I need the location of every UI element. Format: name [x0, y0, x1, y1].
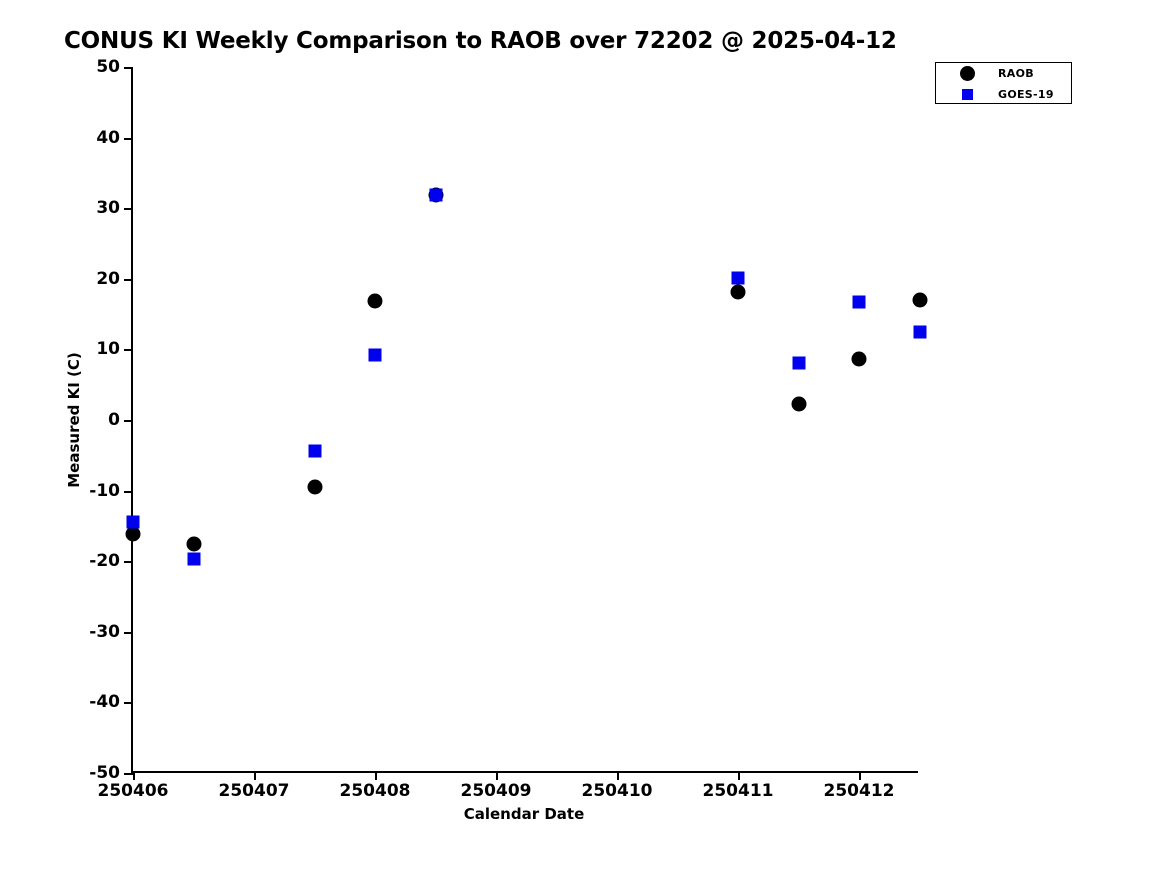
data-point-raob — [912, 292, 927, 307]
data-point-goes-19 — [429, 188, 442, 201]
square-marker-icon — [962, 89, 973, 100]
data-point-goes-19 — [187, 553, 200, 566]
x-tick-mark — [738, 771, 740, 780]
y-tick-label: -20 — [89, 551, 120, 571]
x-tick-label: 250412 — [824, 781, 895, 801]
legend-label: GOES-19 — [998, 88, 1054, 101]
legend-item-goes-19: GOES-19 — [936, 84, 1071, 105]
y-tick-label: -50 — [89, 763, 120, 783]
data-point-raob — [731, 285, 746, 300]
data-point-raob — [368, 294, 383, 309]
x-tick-label: 250410 — [582, 781, 653, 801]
y-tick-mark — [124, 349, 133, 351]
y-tick-mark — [124, 773, 133, 775]
x-tick-label: 250407 — [219, 781, 290, 801]
y-tick-mark — [124, 561, 133, 563]
y-tick-mark — [124, 420, 133, 422]
y-tick-mark — [124, 632, 133, 634]
x-tick-label: 250409 — [461, 781, 532, 801]
x-tick-label: 250406 — [98, 781, 169, 801]
x-tick-mark — [254, 771, 256, 780]
y-tick-label: 0 — [108, 410, 120, 430]
data-point-raob — [126, 527, 141, 542]
y-tick-label: 30 — [96, 198, 120, 218]
data-point-goes-19 — [913, 325, 926, 338]
data-point-raob — [186, 536, 201, 551]
y-axis-title: Measured KI (C) — [65, 352, 83, 488]
legend-marker-wrap — [936, 66, 998, 81]
data-point-raob — [852, 351, 867, 366]
plot-area: -50-40-30-20-1001020304050 2504062504072… — [131, 67, 918, 773]
chart-legend: RAOBGOES-19 — [935, 62, 1072, 104]
chart-page: CONUS KI Weekly Comparison to RAOB over … — [0, 0, 1167, 875]
y-tick-label: -40 — [89, 692, 120, 712]
y-tick-label: 10 — [96, 339, 120, 359]
x-tick-label: 250408 — [340, 781, 411, 801]
data-point-goes-19 — [732, 272, 745, 285]
y-tick-label: -10 — [89, 481, 120, 501]
data-point-raob — [307, 480, 322, 495]
data-point-goes-19 — [127, 516, 140, 529]
x-tick-label: 250411 — [703, 781, 774, 801]
y-tick-label: 50 — [96, 57, 120, 77]
data-point-goes-19 — [308, 445, 321, 458]
y-tick-label: 40 — [96, 128, 120, 148]
y-tick-mark — [124, 67, 133, 69]
x-tick-mark — [496, 771, 498, 780]
y-tick-mark — [124, 208, 133, 210]
x-tick-mark — [617, 771, 619, 780]
y-tick-mark — [124, 279, 133, 281]
data-point-goes-19 — [792, 356, 805, 369]
data-point-goes-19 — [853, 296, 866, 309]
x-tick-mark — [133, 771, 135, 780]
x-tick-mark — [375, 771, 377, 780]
legend-label: RAOB — [998, 67, 1034, 80]
y-tick-mark — [124, 138, 133, 140]
chart-title: CONUS KI Weekly Comparison to RAOB over … — [64, 28, 897, 54]
x-axis-title: Calendar Date — [464, 805, 585, 823]
x-tick-mark — [859, 771, 861, 780]
legend-item-raob: RAOB — [936, 63, 1071, 84]
circle-marker-icon — [960, 66, 975, 81]
data-point-goes-19 — [369, 349, 382, 362]
legend-marker-wrap — [936, 89, 998, 100]
y-tick-label: 20 — [96, 269, 120, 289]
y-tick-mark — [124, 491, 133, 493]
y-tick-label: -30 — [89, 622, 120, 642]
data-point-raob — [791, 396, 806, 411]
y-tick-mark — [124, 702, 133, 704]
